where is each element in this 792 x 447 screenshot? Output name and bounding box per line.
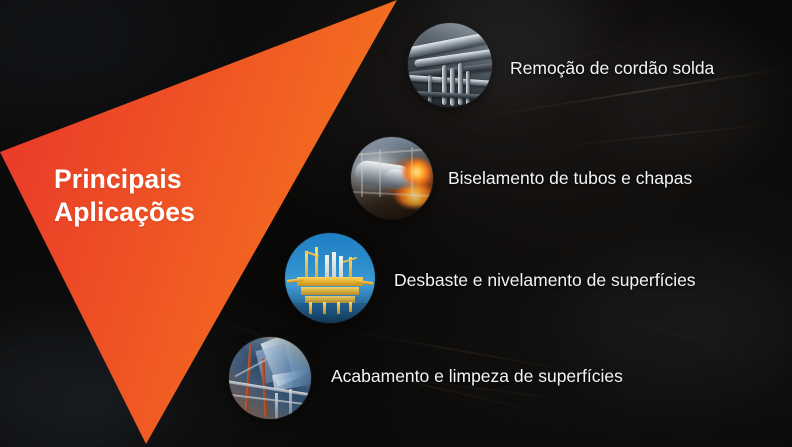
rotary-kiln-furnace-photo <box>351 137 433 219</box>
page-title: Principais Aplicações <box>54 163 195 229</box>
offshore-oil-platform-photo <box>285 233 375 323</box>
application-label-3: Desbaste e nivelamento de superfícies <box>394 272 696 290</box>
scaffolding-structure-photo <box>229 337 311 419</box>
slide-canvas: Principais Aplicações Remoção de cordão … <box>0 0 792 447</box>
steel-pipework-photo <box>408 23 492 107</box>
application-label-4: Acabamento e limpeza de superfícies <box>331 368 623 386</box>
application-label-1: Remoção de cordão solda <box>510 60 714 78</box>
application-label-2: Biselamento de tubos e chapas <box>448 170 692 188</box>
